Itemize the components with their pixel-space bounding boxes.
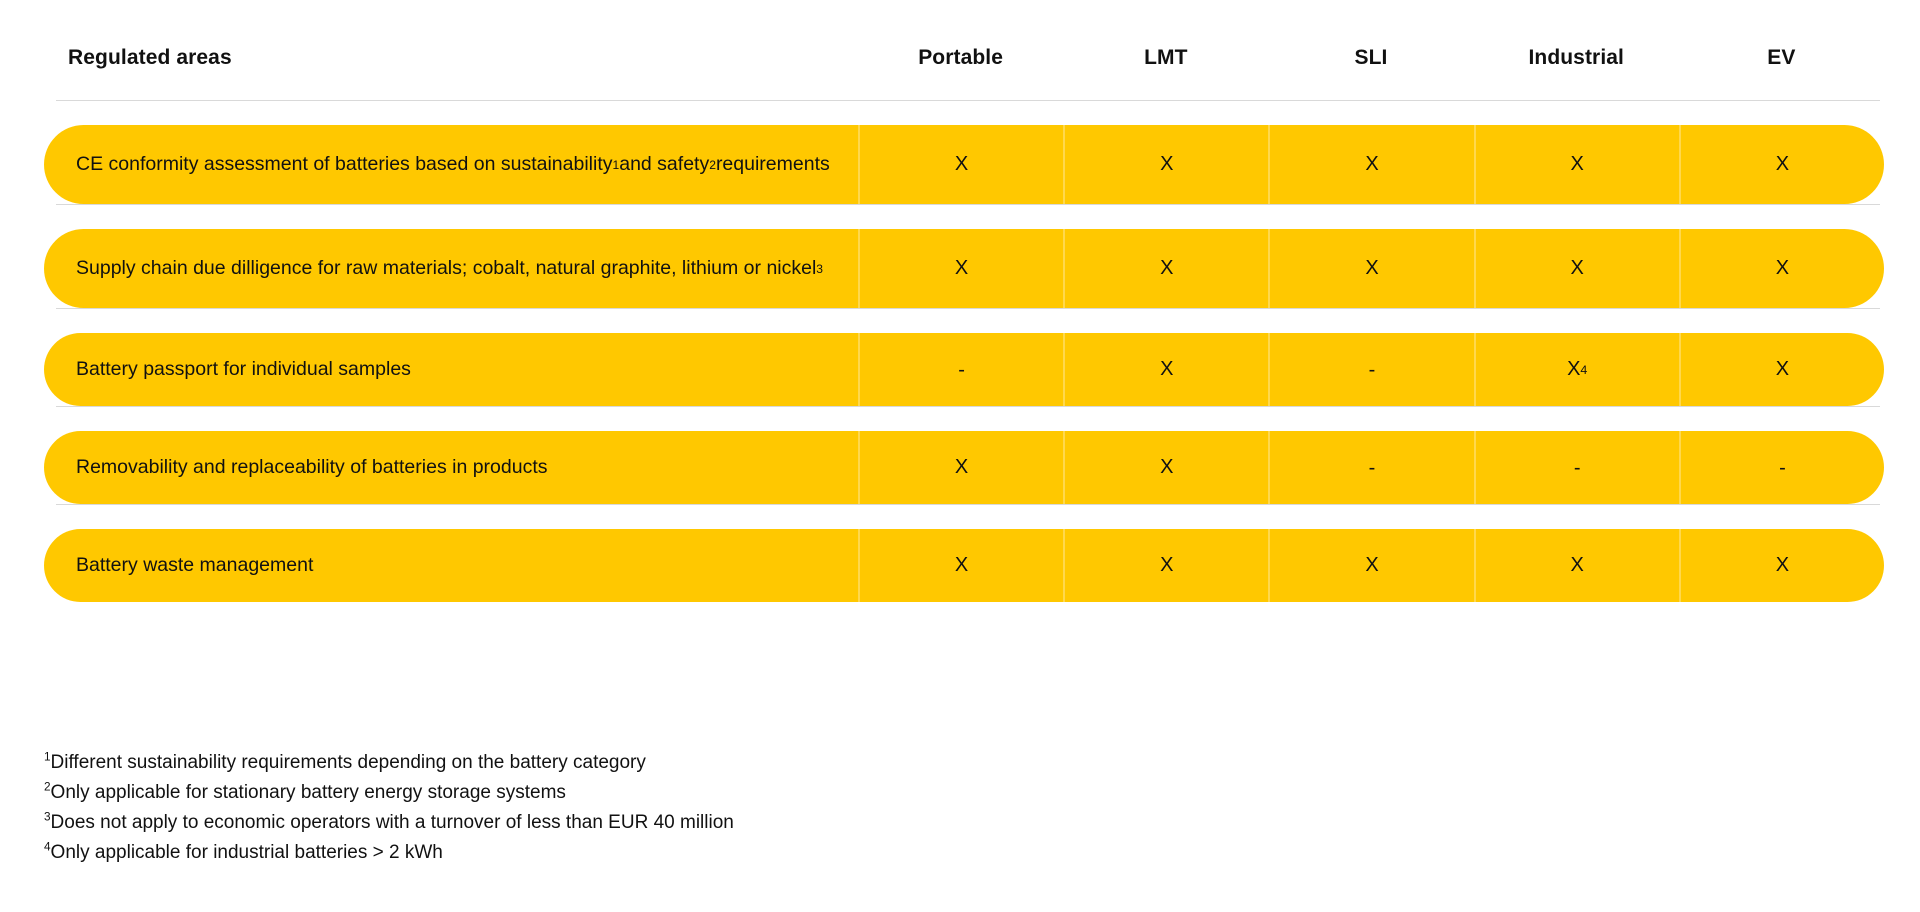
mark-applicable: X (1776, 153, 1789, 176)
cell-industrial: X (1474, 529, 1679, 602)
cell-lmt: X (1063, 333, 1268, 406)
mark-applicable: X (1776, 358, 1789, 381)
row-cells: -X-X4X (858, 333, 1884, 406)
header-column-sli: SLI (1268, 46, 1473, 70)
header-column-industrial: Industrial (1474, 46, 1679, 70)
table-row: Battery waste managementXXXXX (44, 529, 1884, 602)
mark-applicable: X (1571, 153, 1584, 176)
mark-not-applicable: - (1779, 458, 1786, 478)
cell-portable: - (858, 333, 1063, 406)
cell-portable: X (858, 431, 1063, 504)
cell-sli: X (1268, 529, 1473, 602)
mark-applicable: X (1365, 153, 1378, 176)
cell-industrial: X (1474, 125, 1679, 204)
table-header-row: Regulated areas Portable LMT SLI Industr… (44, 22, 1884, 100)
cell-portable: X (858, 529, 1063, 602)
mark-applicable: X (955, 554, 968, 577)
table-row-group: CE conformity assessment of batteries ba… (44, 100, 1884, 204)
mark-not-applicable: - (1369, 458, 1376, 478)
regulation-matrix-page: Regulated areas Portable LMT SLI Industr… (0, 0, 1920, 912)
cell-ev: - (1679, 431, 1884, 504)
row-spacer (44, 205, 1884, 229)
mark-applicable: X (1365, 257, 1378, 280)
cell-sli: - (1268, 333, 1473, 406)
cell-industrial: X (1474, 229, 1679, 308)
cell-ev: X (1679, 529, 1884, 602)
header-category-cells: Portable LMT SLI Industrial EV (858, 22, 1884, 70)
cell-lmt: X (1063, 529, 1268, 602)
footnote-text: Does not apply to economic operators wit… (51, 812, 734, 833)
mark-not-applicable: - (1369, 360, 1376, 380)
mark-applicable: X (955, 456, 968, 479)
footnotes-list: 1Different sustainability requirements d… (44, 748, 1344, 868)
mark-applicable: X (1571, 554, 1584, 577)
table-row-group: Supply chain due dilligence for raw mate… (44, 204, 1884, 308)
cell-lmt: X (1063, 431, 1268, 504)
header-column-portable: Portable (858, 46, 1063, 70)
mark-applicable: X (1160, 456, 1173, 479)
row-cells: XXXXX (858, 529, 1884, 602)
footnote-text: Only applicable for industrial batteries… (51, 842, 443, 863)
cell-industrial: X4 (1474, 333, 1679, 406)
row-spacer (44, 505, 1884, 529)
cell-lmt: X (1063, 229, 1268, 308)
mark-applicable: X (1160, 358, 1173, 381)
header-column-lmt: LMT (1063, 46, 1268, 70)
footnote-text: Different sustainability requirements de… (51, 752, 646, 773)
cell-portable: X (858, 125, 1063, 204)
table-row: CE conformity assessment of batteries ba… (44, 125, 1884, 204)
cell-lmt: X (1063, 125, 1268, 204)
mark-applicable: X (1567, 358, 1580, 381)
cell-sli: X (1268, 229, 1473, 308)
footnote-item: 4Only applicable for industrial batterie… (44, 838, 1344, 868)
mark-applicable: X (1160, 257, 1173, 280)
row-cells: XXXXX (858, 125, 1884, 204)
mark-not-applicable: - (1574, 458, 1581, 478)
row-spacer (44, 407, 1884, 431)
mark-not-applicable: - (958, 360, 965, 380)
cell-ev: X (1679, 229, 1884, 308)
mark-applicable: X (1365, 554, 1378, 577)
row-label: Removability and replaceability of batte… (44, 431, 858, 504)
row-label: Battery passport for individual samples (44, 333, 858, 406)
mark-applicable: X (1776, 257, 1789, 280)
mark-applicable: X (1776, 554, 1789, 577)
table-row: Removability and replaceability of batte… (44, 431, 1884, 504)
cell-industrial: - (1474, 431, 1679, 504)
mark-applicable: X (1160, 153, 1173, 176)
table-row-group: Battery waste managementXXXXX (44, 504, 1884, 602)
table-row-group: Removability and replaceability of batte… (44, 406, 1884, 504)
regulated-areas-table: Regulated areas Portable LMT SLI Industr… (44, 22, 1884, 602)
row-label: CE conformity assessment of batteries ba… (44, 125, 858, 204)
cell-sli: X (1268, 125, 1473, 204)
footnote-item: 2Only applicable for stationary battery … (44, 778, 1344, 808)
table-row: Battery passport for individual samples-… (44, 333, 1884, 406)
mark-applicable: X (1571, 257, 1584, 280)
row-cells: XXXXX (858, 229, 1884, 308)
header-regulated-areas: Regulated areas (44, 22, 858, 70)
cell-sli: - (1268, 431, 1473, 504)
mark-applicable: X (1160, 554, 1173, 577)
row-spacer (44, 309, 1884, 333)
table-body: CE conformity assessment of batteries ba… (44, 100, 1884, 602)
row-cells: XX--- (858, 431, 1884, 504)
mark-applicable: X (955, 153, 968, 176)
footnote-item: 1Different sustainability requirements d… (44, 748, 1344, 778)
cell-ev: X (1679, 333, 1884, 406)
row-label: Supply chain due dilligence for raw mate… (44, 229, 858, 308)
header-column-ev: EV (1679, 46, 1884, 70)
row-label: Battery waste management (44, 529, 858, 602)
cell-ev: X (1679, 125, 1884, 204)
table-row: Supply chain due dilligence for raw mate… (44, 229, 1884, 308)
footnote-item: 3Does not apply to economic operators wi… (44, 808, 1344, 838)
footnote-text: Only applicable for stationary battery e… (51, 782, 566, 803)
cell-portable: X (858, 229, 1063, 308)
table-row-group: Battery passport for individual samples-… (44, 308, 1884, 406)
mark-applicable: X (955, 257, 968, 280)
row-spacer (44, 101, 1884, 125)
